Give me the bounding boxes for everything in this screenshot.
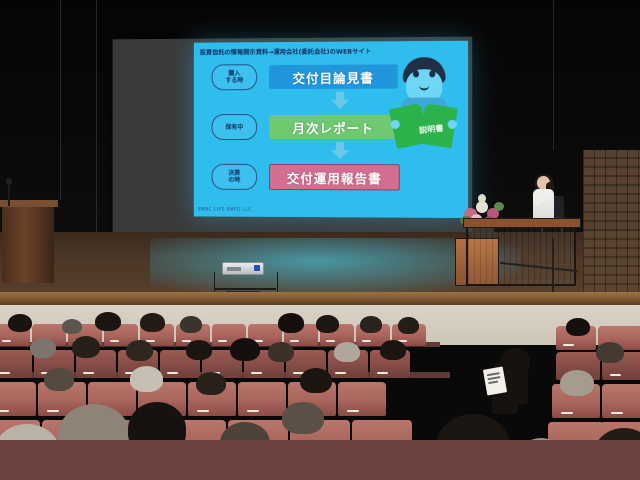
boy-eye-icon: [413, 70, 419, 77]
timing-line-2: の時: [228, 177, 240, 184]
audience-head: [596, 342, 624, 363]
slide-title: 投資信託の情報開示資料→運用会社(委託会社)のWEBサイト: [200, 46, 371, 56]
curtain-seam: [553, 0, 554, 150]
document-box-prospectus: 交付目論見書: [269, 64, 398, 89]
audience-head: [380, 340, 406, 360]
seat: [0, 382, 36, 416]
audience-head: [360, 316, 382, 333]
audience-head: [398, 317, 419, 334]
boy-reading-manual-illustration: 説明書: [389, 57, 460, 150]
slide-row-settlement: 決算 の時 交付運用報告書: [212, 164, 400, 191]
seat: [0, 350, 32, 378]
audience-head: [278, 313, 304, 333]
audience-head: [282, 402, 324, 434]
audience-head: [62, 319, 82, 334]
screenshot-root: 投資信託の情報開示資料→運用会社(委託会社)のWEBサイト 購入 する時 交付目…: [0, 0, 640, 480]
curtain-seam: [96, 0, 97, 250]
timing-pill-purchase: 購入 する時: [212, 64, 258, 90]
projected-slide: 投資信託の情報開示資料→運用会社(委託会社)のWEBサイト 購入 する時 交付目…: [194, 41, 468, 218]
audience-head: [316, 315, 339, 333]
boy-hand-icon: [391, 120, 400, 129]
left-lectern: [2, 205, 54, 283]
wall-panel-slats: [583, 150, 640, 310]
audience-head: [180, 316, 202, 333]
audience-head: [566, 318, 590, 336]
audience-head: [230, 338, 260, 361]
microphone-icon: [8, 182, 10, 206]
seat: [338, 382, 386, 416]
slide-row-holding: 保有中 月次レポート: [212, 114, 398, 140]
audience-head: [126, 340, 153, 361]
audience-head: [44, 368, 74, 391]
projector: [222, 262, 264, 275]
boy-hand-icon: [448, 120, 457, 129]
handout-document: [483, 366, 507, 395]
slide-row-purchase: 購入 する時 交付目論見書: [212, 63, 398, 90]
timing-line-1: 購入: [228, 70, 240, 77]
right-lectern: [466, 222, 576, 286]
audience-head: [130, 366, 163, 392]
projector-lens-icon: [254, 265, 260, 271]
seat: [238, 382, 286, 416]
timing-pill-holding: 保有中: [212, 114, 258, 140]
timing-line-2: する時: [225, 77, 243, 84]
audience-head: [186, 340, 212, 360]
audience-head: [268, 342, 294, 362]
audience-head: [30, 338, 56, 358]
front-floor: [0, 440, 640, 480]
audience-head: [560, 370, 594, 396]
audience-head: [300, 368, 332, 393]
seated-person-legs: [492, 400, 518, 414]
boy-eye-icon: [429, 70, 435, 77]
stage-edge: [0, 292, 640, 305]
audience-head: [334, 342, 360, 362]
curtain-seam: [60, 0, 61, 200]
audience-head: [72, 336, 100, 358]
audience-head: [196, 372, 226, 395]
slide-footer-logo: SMBC LIFE SMFG LLC: [198, 208, 252, 213]
audience-head: [95, 312, 121, 331]
seat: [602, 384, 640, 418]
projection-screen: 投資信託の情報開示資料→運用会社(委託会社)のWEBサイト 購入 する時 交付目…: [113, 37, 473, 240]
audience-head: [140, 313, 165, 332]
audience-head: [8, 314, 32, 332]
document-box-monthly-report: 月次レポート: [269, 115, 398, 139]
document-box-operation-report: 交付運用報告書: [269, 164, 400, 190]
timing-line-1: 決算: [228, 170, 240, 177]
timing-line-1: 保有中: [225, 124, 243, 131]
timing-pill-settlement: 決算 の時: [212, 164, 258, 190]
